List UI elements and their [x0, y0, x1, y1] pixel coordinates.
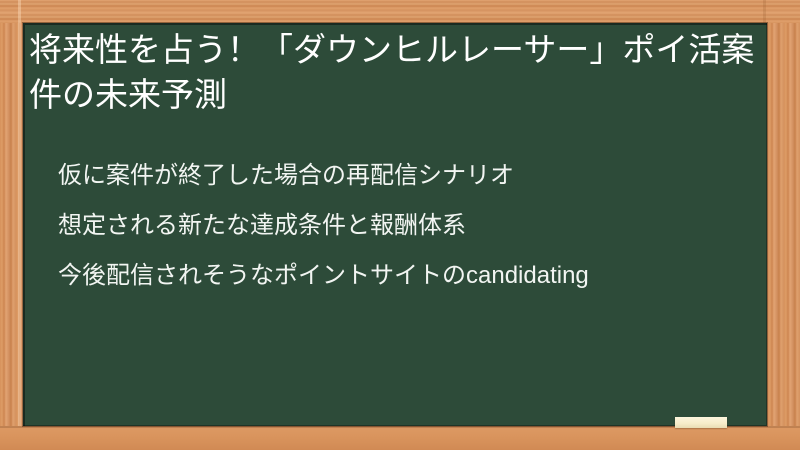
chalkboard-slide: 将来性を占う！「ダウンヒルレーサー」ポイ活案件の未来予測 仮に案件が終了した場合… [0, 0, 800, 450]
chalk-stick-icon [675, 417, 727, 428]
wooden-frame-ledge [0, 426, 800, 450]
list-item: 今後配信されそうなポイントサイトのcandidating [58, 251, 758, 301]
chalkboard-surface: 将来性を占う！「ダウンヒルレーサー」ポイ活案件の未来予測 仮に案件が終了した場合… [23, 23, 767, 426]
slide-title: 将来性を占う！「ダウンヒルレーサー」ポイ活案件の未来予測 [29, 27, 757, 117]
list-item: 仮に案件が終了した場合の再配信シナリオ [58, 151, 758, 201]
wooden-frame-left-highlight [18, 0, 21, 450]
wooden-frame-top-rail [0, 0, 800, 23]
slide-bullet-list: 仮に案件が終了した場合の再配信シナリオ 想定される新たな達成条件と報酬体系 今後… [58, 151, 758, 301]
list-item: 想定される新たな達成条件と報酬体系 [58, 201, 758, 251]
